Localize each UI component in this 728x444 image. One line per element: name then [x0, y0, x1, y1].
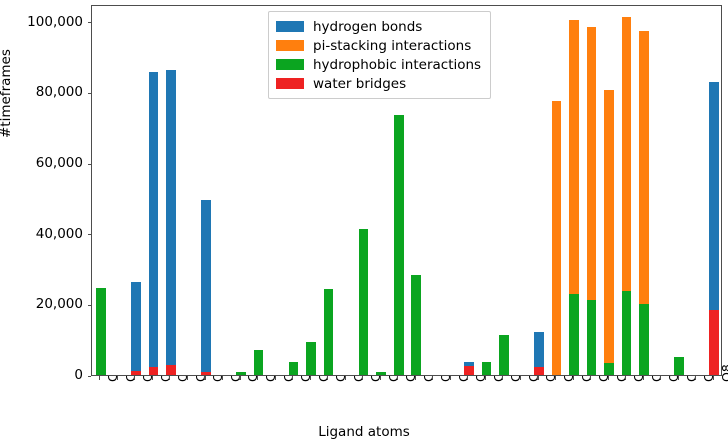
bar-group: [131, 282, 141, 375]
bar-segment: [569, 294, 579, 375]
y-tick-label: 0: [0, 367, 83, 383]
legend-item[interactable]: water bridges: [276, 74, 481, 93]
x-axis-label: Ligand atoms: [0, 424, 728, 440]
x-tick-mark: [502, 376, 503, 380]
x-tick-mark: [713, 376, 714, 380]
bar-segment: [201, 200, 211, 372]
bar-group: [552, 101, 562, 375]
bar-group: [499, 335, 509, 375]
bar-group: [394, 115, 404, 375]
legend-label: hydrogen bonds: [313, 19, 422, 35]
x-tick-mark: [573, 376, 574, 380]
bar-segment: [534, 367, 544, 375]
x-tick-mark: [134, 376, 135, 380]
bar-segment: [587, 27, 597, 301]
legend-label: pi-stacking interactions: [313, 38, 471, 54]
x-tick-mark: [450, 376, 451, 380]
bar-group: [464, 362, 474, 375]
bar-group: [324, 289, 334, 375]
bar-segment: [324, 289, 334, 375]
bar-group: [201, 200, 211, 375]
x-tick-mark: [520, 376, 521, 380]
x-tick-mark: [327, 376, 328, 380]
bar-segment: [201, 372, 211, 375]
x-tick-mark: [485, 376, 486, 380]
bar-segment: [149, 367, 159, 375]
bar-segment: [604, 363, 614, 375]
y-tick-label: 100,000: [0, 14, 83, 30]
x-tick-mark: [310, 376, 311, 380]
bar-segment: [709, 82, 719, 310]
bar-segment: [254, 350, 264, 375]
x-tick-mark: [695, 376, 696, 380]
bar-segment: [306, 342, 316, 375]
legend-swatch: [276, 40, 304, 51]
bar-segment: [289, 362, 299, 375]
bar-segment: [552, 101, 562, 375]
bar-group: [534, 332, 544, 375]
bar-segment: [587, 300, 597, 375]
x-tick-mark: [169, 376, 170, 380]
bar-group: [709, 82, 719, 375]
legend-label: hydrophobic interactions: [313, 57, 481, 73]
bar-group: [376, 372, 386, 375]
bar-group: [587, 27, 597, 375]
bar-group: [569, 20, 579, 375]
x-tick-mark: [292, 376, 293, 380]
bar-segment: [166, 365, 176, 375]
bar-segment: [639, 31, 649, 305]
bar-segment: [131, 282, 141, 370]
bar-group: [411, 275, 421, 375]
y-tick-label: 60,000: [0, 155, 83, 171]
bar-segment: [411, 275, 421, 375]
bar-segment: [622, 291, 632, 375]
bar-segment: [376, 372, 386, 375]
bar-group: [289, 362, 299, 375]
bar-segment: [569, 20, 579, 294]
x-tick-mark: [660, 376, 661, 380]
x-tick-mark: [204, 376, 205, 380]
bar-segment: [394, 115, 404, 375]
x-tick-mark: [537, 376, 538, 380]
bar-segment: [639, 304, 649, 375]
x-tick-mark: [362, 376, 363, 380]
bar-segment: [622, 17, 632, 291]
x-tick-mark: [678, 376, 679, 380]
x-tick-mark: [275, 376, 276, 380]
legend-swatch: [276, 59, 304, 70]
bar-group: [254, 350, 264, 375]
legend-item[interactable]: hydrogen bonds: [276, 17, 481, 36]
x-tick-mark: [608, 376, 609, 380]
x-tick-mark: [239, 376, 240, 380]
x-tick-mark: [590, 376, 591, 380]
x-tick-mark: [257, 376, 258, 380]
bar-segment: [149, 72, 159, 366]
bar-segment: [534, 332, 544, 368]
legend-item[interactable]: pi-stacking interactions: [276, 36, 481, 55]
bar-segment: [604, 90, 614, 364]
bar-group: [674, 357, 684, 375]
bar-segment: [131, 371, 141, 375]
x-tick-mark: [467, 376, 468, 380]
bar-segment: [464, 366, 474, 375]
x-tick-mark: [152, 376, 153, 380]
x-tick-mark: [99, 376, 100, 380]
bar-segment: [674, 357, 684, 375]
x-tick-mark: [397, 376, 398, 380]
bar-group: [236, 372, 246, 375]
bar-segment: [166, 70, 176, 365]
legend-label: water bridges: [313, 76, 406, 92]
bar-group: [149, 72, 159, 375]
y-tick-label: 80,000: [0, 84, 83, 100]
x-tick-mark: [625, 376, 626, 380]
bar-segment: [709, 310, 719, 375]
x-tick-mark: [432, 376, 433, 380]
x-tick-mark: [187, 376, 188, 380]
bar-group: [622, 17, 632, 375]
x-tick-mark: [415, 376, 416, 380]
bar-segment: [482, 362, 492, 375]
legend-swatch: [276, 21, 304, 32]
bar-group: [166, 70, 176, 375]
bar-segment: [359, 229, 369, 375]
bar-group: [359, 229, 369, 375]
x-tick-mark: [345, 376, 346, 380]
legend-swatch: [276, 78, 304, 89]
bar-group: [482, 362, 492, 375]
bar-group: [96, 288, 106, 375]
chart-legend: hydrogen bondspi-stacking interactionshy…: [268, 11, 491, 99]
bar-group: [306, 342, 316, 375]
bar-group: [639, 31, 649, 376]
x-tick-mark: [117, 376, 118, 380]
bar-segment: [236, 372, 246, 375]
y-tick-label: 40,000: [0, 226, 83, 242]
legend-item[interactable]: hydrophobic interactions: [276, 55, 481, 74]
bar-segment: [96, 288, 106, 375]
bar-segment: [499, 335, 509, 375]
x-tick-mark: [643, 376, 644, 380]
y-tick-label: 20,000: [0, 296, 83, 312]
x-tick-mark: [555, 376, 556, 380]
x-tick-mark: [380, 376, 381, 380]
figure: #timeframes 020,00040,00060,00080,000100…: [0, 0, 728, 444]
bar-group: [604, 90, 614, 375]
x-tick-mark: [222, 376, 223, 380]
